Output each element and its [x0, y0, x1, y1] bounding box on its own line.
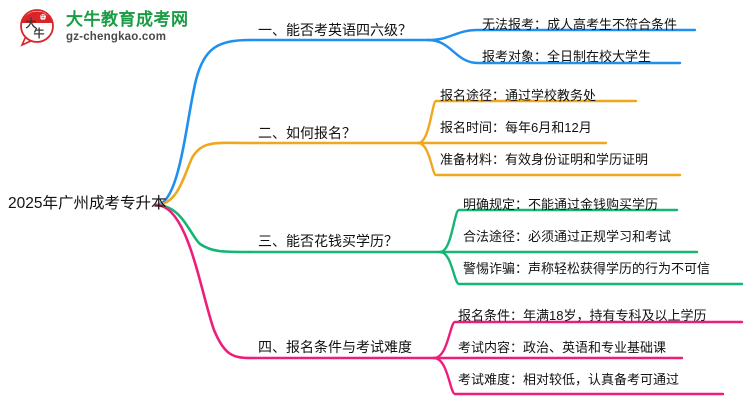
logo-subtitle: gz-chengkao.com	[66, 31, 189, 43]
mindmap-leaf-node-1-1[interactable]: 无法报考：成人高考生不符合条件	[482, 18, 677, 31]
mindmap-leaf-node-2-2[interactable]: 报名时间：每年6月和12月	[440, 121, 592, 134]
mindmap-leaf-node-3-2[interactable]: 合法途径：必须通过正规学习和考试	[463, 230, 671, 243]
mindmap-leaf-node-4-1[interactable]: 报名条件：年满18岁，持有专科及以上学历	[458, 309, 706, 322]
svg-text:牛: 牛	[40, 14, 46, 22]
logo-text: 大牛教育成考网 gz-chengkao.com	[66, 11, 189, 43]
mindmap-leaf-node-2-3[interactable]: 准备材料：有效身份证明和学历证明	[440, 153, 648, 166]
mindmap-branch-node-1[interactable]: 一、能否考英语四六级？	[258, 23, 412, 37]
logo-title: 大牛教育成考网	[66, 11, 189, 29]
mindmap-branch-node-4[interactable]: 四、报名条件与考试难度	[258, 340, 412, 354]
mindmap-branch-node-2[interactable]: 二、如何报名？	[258, 126, 356, 140]
mindmap-leaf-node-2-1[interactable]: 报名途径：通过学校教务处	[440, 89, 596, 102]
mindmap-leaf-node-1-2[interactable]: 报考对象：全日制在校大学生	[482, 50, 651, 63]
mindmap-leaf-node-4-3[interactable]: 考试难度：相对较低，认真备考可通过	[458, 373, 679, 386]
mindmap-leaf-node-4-2[interactable]: 考试内容：政治、英语和专业基础课	[458, 341, 666, 354]
site-logo: 牛 大 牛 大牛教育成考网 gz-chengkao.com	[16, 6, 189, 48]
mindmap-branch-node-3[interactable]: 三、能否花钱买学历？	[258, 234, 398, 248]
daniu-bull-logo-icon: 牛 大 牛	[16, 6, 58, 48]
mindmap-leaf-node-3-3[interactable]: 警惕诈骗：声称轻松获得学历的行为不可信	[463, 262, 710, 275]
mindmap-root-node[interactable]: 2025年广州成考专升本	[8, 196, 166, 212]
svg-text:牛: 牛	[34, 26, 45, 40]
mindmap-leaf-node-3-1[interactable]: 明确规定：不能通过金钱购买学历	[463, 198, 658, 211]
